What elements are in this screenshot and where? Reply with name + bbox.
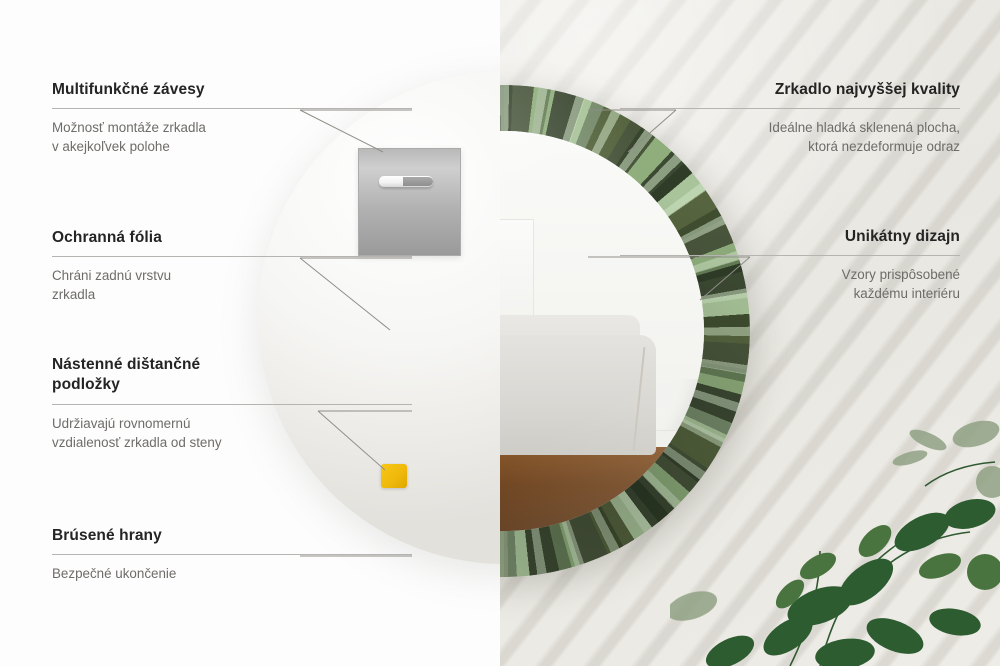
feature-unique-design-rule (620, 255, 960, 256)
feature-unique-design-desc: Vzory prispôsobené každému interiéru (620, 265, 960, 303)
feature-protective-foil-desc: Chráni zadnú vrstvu zrkadla (52, 266, 412, 304)
feature-wall-spacers-rule (52, 404, 412, 405)
mirror-front (500, 85, 750, 577)
feature-protective-foil-title: Ochranná fólia (52, 228, 412, 248)
feature-hinges-desc: Možnosť montáže zrkadla v akejkoľvek pol… (52, 118, 412, 156)
yellow-spacer-pad (381, 464, 407, 488)
feature-hinges: Multifunkčné závesy Možnosť montáže zrka… (52, 80, 412, 157)
feature-hinges-title: Multifunkčné závesy (52, 80, 412, 100)
feature-unique-design: Unikátny dizajn Vzory prispôsobené každé… (620, 227, 960, 304)
feature-hinges-rule (52, 108, 412, 109)
feature-ground-edges-rule (52, 554, 412, 555)
feature-top-quality-mirror-desc: Ideálne hladká sklenená plocha, ktorá ne… (620, 118, 960, 156)
desc-line-1: Udržiavajú rovnomernú (52, 416, 190, 431)
feature-ground-edges-title: Brúsené hrany (52, 526, 412, 546)
desc-line-1: Vzory prispôsobené (842, 267, 960, 282)
desc-line-2: zrkadla (52, 287, 95, 302)
desc-line-1: Ideálne hladká sklenená plocha, (769, 120, 960, 135)
desc-line-1: Možnosť montáže zrkadla (52, 120, 206, 135)
feature-wall-spacers-title: Nástenné dištančné podložky (52, 355, 412, 396)
desc-line-2: každému interiéru (854, 286, 960, 301)
feature-top-quality-mirror-rule (620, 108, 960, 109)
feature-unique-design-title: Unikátny dizajn (620, 227, 960, 247)
desc-line-2: vzdialenosť zrkadla od steny (52, 435, 222, 450)
feature-protective-foil-rule (52, 256, 412, 257)
feature-top-quality-mirror-title: Zrkadlo najvyššej kvality (620, 80, 960, 100)
feature-top-quality-mirror: Zrkadlo najvyššej kvality Ideálne hladká… (620, 80, 960, 157)
desc-line-1: Chráni zadnú vrstvu (52, 268, 171, 283)
feature-protective-foil: Ochranná fólia Chráni zadnú vrstvu zrkad… (52, 228, 412, 305)
feature-ground-edges-desc: Bezpečné ukončenie (52, 564, 412, 583)
title-line-2: podložky (52, 376, 120, 393)
desc-line-2: ktorá nezdeformuje odraz (808, 139, 960, 154)
feature-wall-spacers-desc: Udržiavajú rovnomernú vzdialenosť zrkadl… (52, 414, 412, 452)
title-line-1: Nástenné dištančné (52, 356, 200, 373)
infographic-stage: Multifunkčné závesy Možnosť montáže zrka… (0, 0, 1000, 666)
desc-line-2: v akejkoľvek polohe (52, 139, 170, 154)
feature-ground-edges: Brúsené hrany Bezpečné ukončenie (52, 526, 412, 583)
feature-wall-spacers: Nástenné dištančné podložky Udržiavajú r… (52, 355, 412, 452)
mirror-glass (500, 131, 704, 531)
hanger-keyhole-slot (379, 176, 433, 187)
